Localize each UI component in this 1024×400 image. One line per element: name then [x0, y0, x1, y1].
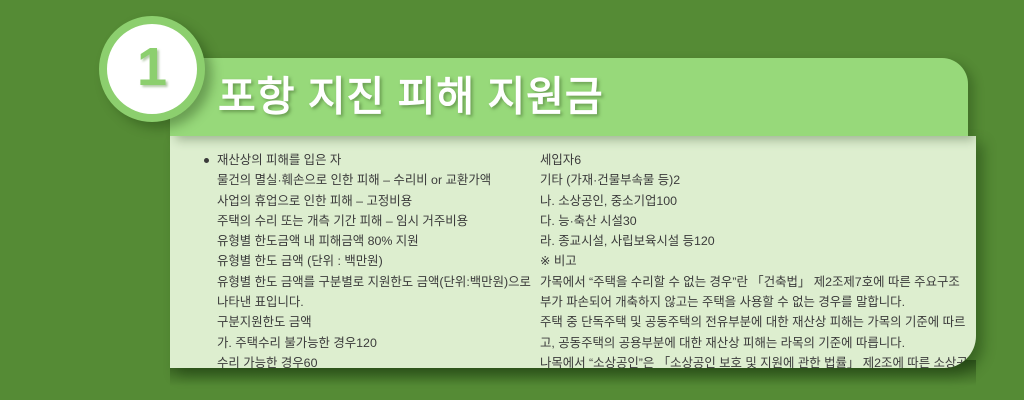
header-banner: 포항 지진 피해 지원금 — [170, 58, 968, 136]
right-text-line: 세입자6 — [540, 150, 968, 170]
left-text-line: 가. 주택수리 불가능한 경우120 — [202, 333, 536, 353]
page-title: 포항 지진 피해 지원금 — [218, 77, 604, 118]
right-text-line: 다. 능·축산 시설30 — [540, 211, 968, 231]
right-text-line: 기타 (가재·건물부속물 등)2 — [540, 170, 968, 190]
left-text-line: 물건의 멸실·훼손으로 인한 피해 – 수리비 or 교환가액 — [202, 170, 536, 190]
right-text-line: 라. 종교시설, 사립보육시설 등120 — [540, 231, 968, 251]
infographic-stage: 포항 지진 피해 지원금 1 재산상의 피해를 입은 자물건의 멸실·훼손으로 … — [0, 0, 1024, 400]
left-text-line: 재산상의 피해를 입은 자 — [202, 150, 536, 170]
step-number-badge: 1 — [99, 16, 205, 122]
left-text-line: 유형별 한도 금액 (단위 : 백만원) — [202, 251, 536, 271]
left-text-line: 유형별 한도 금액를 구분별로 지원한도 금액(단위:백만원)으로 나타낸 표입… — [202, 272, 536, 313]
right-text-line: 가목에서 “주택을 수리할 수 없는 경우”란 「건축법」 제2조제7호에 따른… — [540, 272, 968, 313]
right-text-line: 나. 소상공인, 중소기업100 — [540, 191, 968, 211]
content-panel: 재산상의 피해를 입은 자물건의 멸실·훼손으로 인한 피해 – 수리비 or … — [170, 136, 976, 368]
right-text-column: 세입자6기타 (가재·건물부속물 등)2나. 소상공인, 중소기업100다. 능… — [540, 150, 976, 368]
right-text-line: ※ 비고 — [540, 251, 968, 271]
left-text-line: 사업의 휴업으로 인한 피해 – 고정비용 — [202, 191, 536, 211]
right-text-line: 주택 중 단독주택 및 공동주택의 전유부분에 대한 재산상 피해는 가목의 기… — [540, 312, 968, 353]
left-text-line: 유형별 한도금액 내 피해금액 80% 지원 — [202, 231, 536, 251]
left-text-line: 구분지원한도 금액 — [202, 312, 536, 332]
content-columns: 재산상의 피해를 입은 자물건의 멸실·훼손으로 인한 피해 – 수리비 or … — [170, 136, 976, 368]
step-number-label: 1 — [137, 40, 167, 94]
left-text-column: 재산상의 피해를 입은 자물건의 멸실·훼손으로 인한 피해 – 수리비 or … — [170, 150, 540, 368]
right-text-line: 나목에서 “소상공인”은 「소상공인 보호 및 지원에 관한 법률」 제2조에 … — [540, 353, 968, 368]
left-text-line: 수리 가능한 경우60 — [202, 353, 536, 368]
left-text-line: 주택의 수리 또는 개측 기간 피해 – 임시 거주비용 — [202, 211, 536, 231]
